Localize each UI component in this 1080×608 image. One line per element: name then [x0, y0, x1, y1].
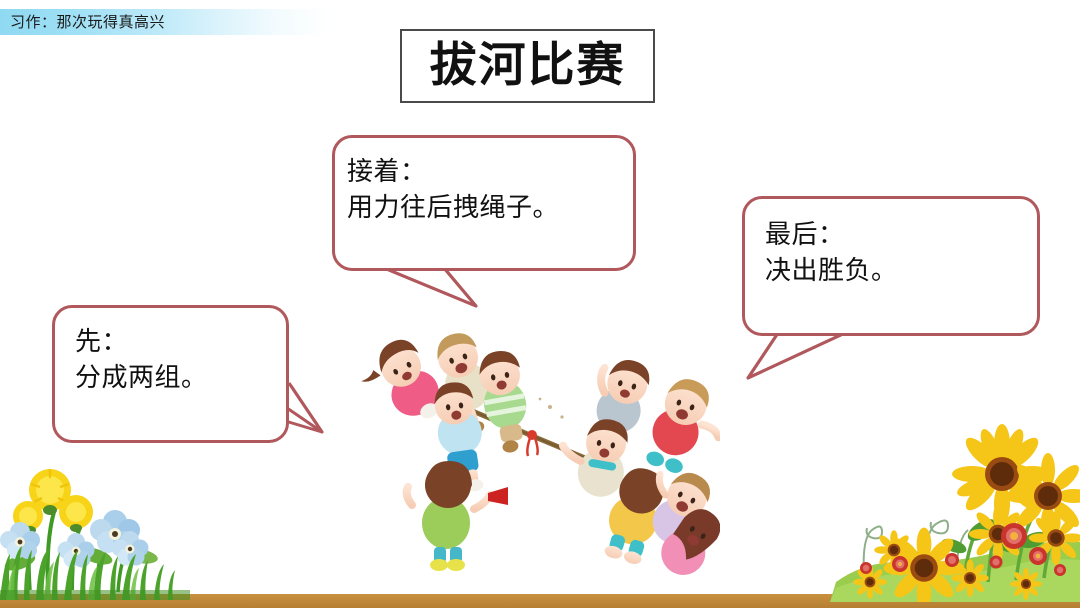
speech-bubble-next[interactable]: 接着： 用力往后拽绳子。: [332, 135, 636, 271]
speech-bubble-first[interactable]: 先： 分成两组。: [52, 305, 289, 443]
tug-of-war-illustration-icon: [350, 325, 720, 575]
page-title: 拔河比赛: [430, 40, 626, 92]
header-banner-label: 习作：那次玩得真高兴: [10, 10, 165, 34]
speech-bubble-last[interactable]: 最后： 决出胜负。: [742, 196, 1040, 336]
sunflowers-icon: [830, 422, 1080, 602]
page-title-box: 拔河比赛: [400, 29, 655, 103]
speech-bubble-first-text: 先： 分成两组。: [55, 308, 286, 406]
speech-bubble-next-text: 接着： 用力往后拽绳子。: [335, 138, 633, 236]
speech-bubble-last-text: 最后： 决出胜负。: [745, 199, 1037, 299]
dandelions-and-pansies-icon: [0, 440, 270, 600]
slide-canvas: 习作：那次玩得真高兴 拔河比赛 先： 分成两组。 接着： 用力往后拽绳子。 最后…: [0, 0, 1080, 608]
